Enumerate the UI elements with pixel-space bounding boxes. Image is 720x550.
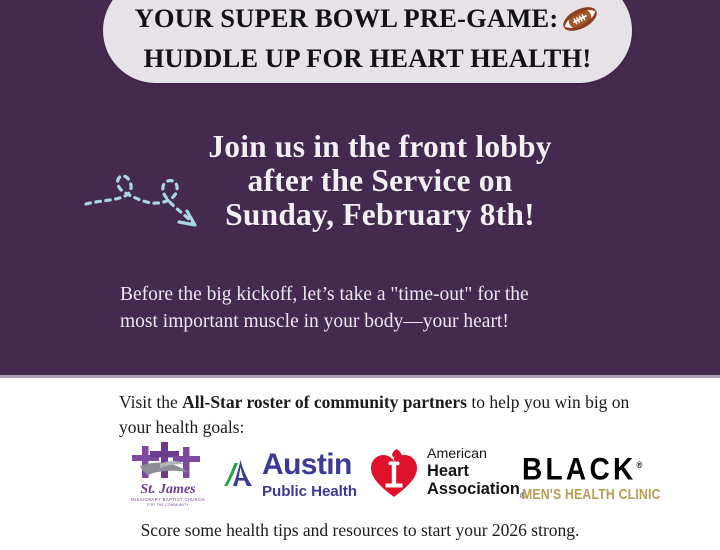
headline-line-3: Sunday, February 8th! — [150, 198, 610, 232]
aha-line-3: Association — [427, 480, 520, 498]
subcopy-line-2: most important muscle in your body—your … — [120, 308, 612, 335]
partners-prefix: Visit the — [119, 392, 182, 412]
flyer-root: Join us in the front lobby after the Ser… — [0, 0, 720, 550]
title-banner: YOUR SUPER BOWL PRE-GAME: — [103, 0, 632, 83]
footer-text: Score some health tips and resources to … — [0, 518, 720, 542]
subcopy-line-1: Before the big kickoff, let’s take a "ti… — [120, 281, 612, 308]
headline-line-1: Join us in the front lobby — [150, 130, 610, 164]
partner-logo-american-heart-association[interactable]: American Heart Association® — [370, 446, 515, 504]
aha-line-2: Heart — [427, 463, 526, 481]
partners-intro-text: Visit the All-Star roster of community p… — [119, 390, 634, 440]
football-icon — [560, 4, 600, 42]
partner-logo-row: St. James MISSIONARY BAPTIST CHURCH FOR … — [122, 444, 642, 506]
banner-title-line-2: HUDDLE UP FOR HEART HEALTH! — [117, 42, 618, 75]
partner-logo-black-mens-health-clinic[interactable]: BLACK® MEN'S HEALTH CLINIC — [522, 446, 642, 504]
bmhc-registered-mark: ® — [637, 460, 643, 470]
aha-line-1: American — [427, 446, 526, 464]
austin-a-peak-icon — [221, 455, 257, 496]
headline-line-2: after the Service on — [150, 164, 610, 198]
st-james-tagline-2: FOR THE COMMUNITY — [122, 503, 214, 508]
partner-logo-st-james[interactable]: St. James MISSIONARY BAPTIST CHURCH FOR … — [122, 446, 214, 504]
bmhc-subtitle: MEN'S HEALTH CLINIC — [522, 487, 639, 502]
event-headline: Join us in the front lobby after the Ser… — [150, 130, 610, 232]
hero-subcopy: Before the big kickoff, let’s take a "ti… — [120, 281, 612, 335]
partners-bold: All-Star roster of community partners — [182, 392, 467, 412]
austin-wordmark: Austin — [262, 450, 357, 480]
austin-subtitle: Public Health — [262, 483, 357, 501]
heart-with-torch-icon — [370, 448, 418, 503]
bmhc-wordmark: BLACK — [522, 452, 637, 487]
banner-title-line-1: YOUR SUPER BOWL PRE-GAME: — [117, 2, 618, 42]
partner-logo-austin-public-health[interactable]: Austin Public Health — [221, 446, 363, 504]
st-james-script-name: St. James — [122, 483, 214, 497]
banner-title-text-1: YOUR SUPER BOWL PRE-GAME: — [135, 3, 559, 33]
partners-section: Visit the All-Star roster of community p… — [0, 378, 720, 550]
